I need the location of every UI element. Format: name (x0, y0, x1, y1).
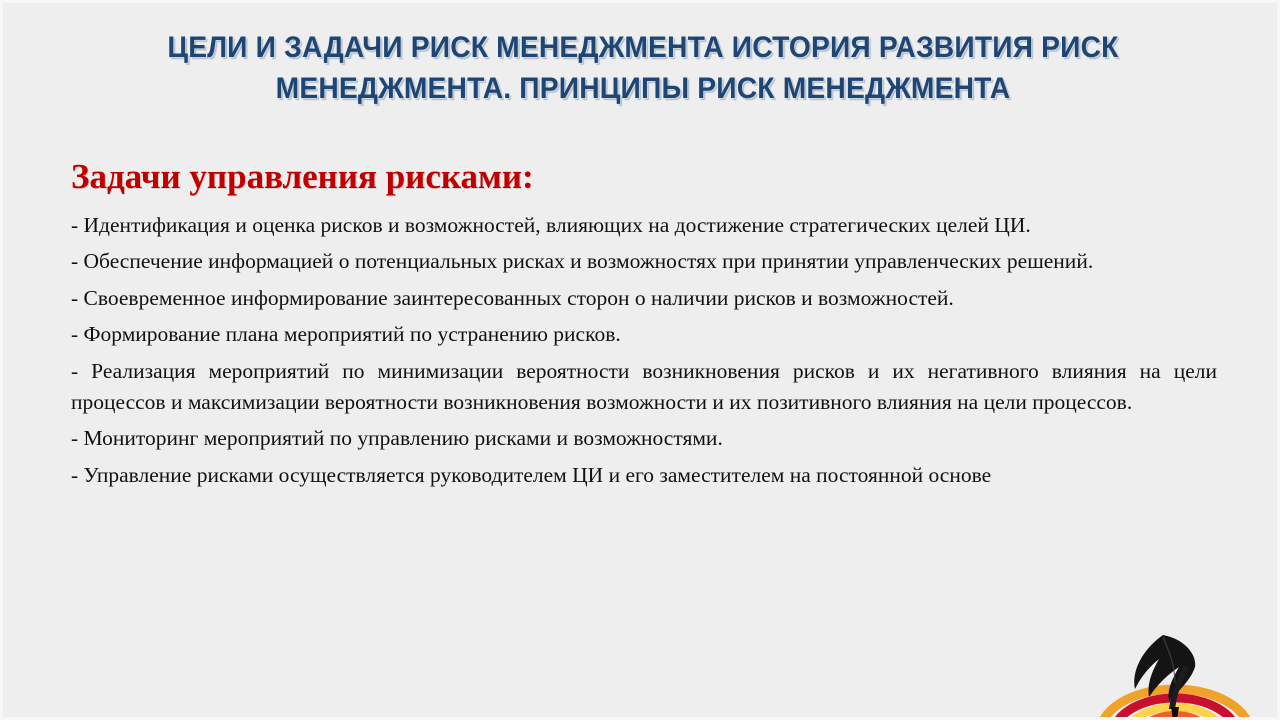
list-item: - Идентификация и оценка рисков и возмож… (71, 210, 1217, 241)
ring-arcs (1099, 689, 1251, 717)
list-item: - Своевременное информирование заинтерес… (71, 283, 1217, 314)
list-item: - Реализация мероприятий по минимизации … (71, 356, 1217, 419)
feather-shape (1134, 635, 1195, 717)
list-item: - Обеспечение информацией о потенциальны… (71, 246, 1217, 277)
quill-pen-icon (1091, 627, 1277, 717)
page-title: ЦЕЛИ И ЗАДАЧИ РИСК МЕНЕДЖМЕНТА ИСТОРИЯ Р… (126, 27, 1160, 109)
list-item: - Формирование плана мероприятий по устр… (71, 319, 1217, 350)
list-item: - Мониторинг мероприятий по управлению р… (71, 423, 1217, 454)
section-heading: Задачи управления рисками: (71, 158, 534, 197)
presentation-slide: ЦЕЛИ И ЗАДАЧИ РИСК МЕНЕДЖМЕНТА ИСТОРИЯ Р… (0, 0, 1280, 720)
list-item: - Управление рисками осуществляется руко… (71, 460, 1217, 491)
task-list: - Идентификация и оценка рисков и возмож… (71, 210, 1217, 491)
